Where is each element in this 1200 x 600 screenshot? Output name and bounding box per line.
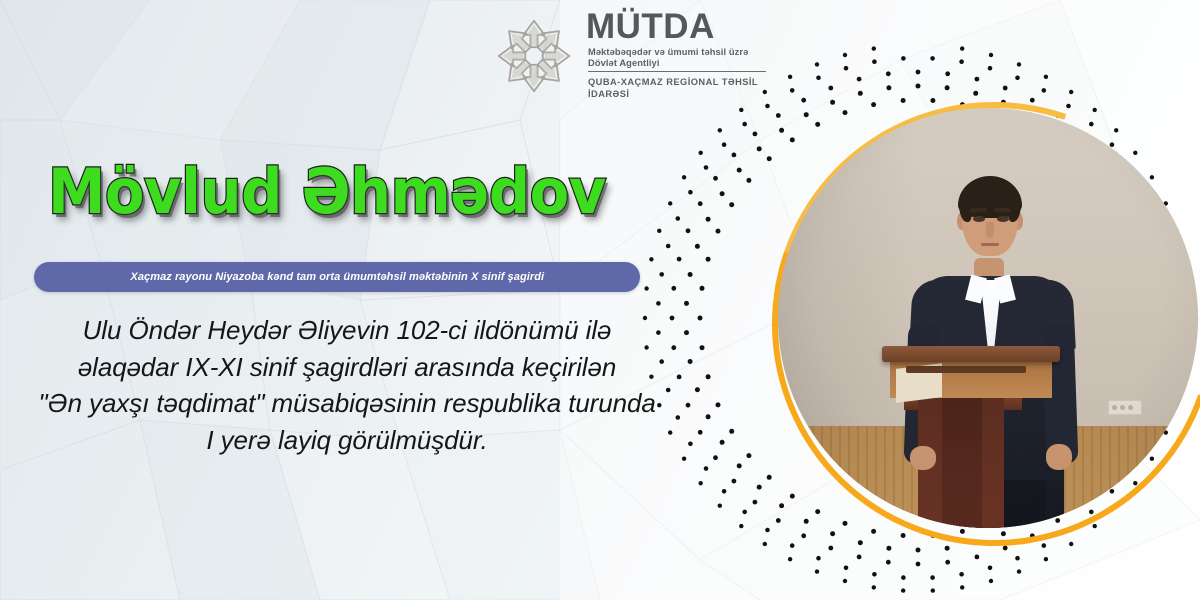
logo-wordmark: MÜTDA [586, 8, 786, 46]
avatar [778, 108, 1198, 528]
portrait-stage [640, 46, 1200, 600]
poster-canvas: MÜTDA Məktəbəqədər və ümumi təhsil üzrə … [0, 0, 1200, 600]
photo-vignette [778, 108, 1198, 528]
snowflake-emblem-icon [488, 12, 580, 100]
page-title: Mövlud Əhmədov [48, 156, 606, 228]
status-badge: Xaçmaz rayonu Niyazoba kənd tam orta ümu… [34, 262, 640, 292]
achievement-description: Ulu Öndər Heydər Əliyevin 102-ci ildönüm… [0, 312, 694, 458]
body-line-4: I yerə layiq görülmüşdür. [0, 422, 694, 459]
body-line-1: Ulu Öndər Heydər Əliyevin 102-ci ildönüm… [0, 312, 694, 349]
body-line-2: əlaqədar IX-XI sinif şagirdləri arasında… [0, 349, 694, 386]
body-line-3: "Ən yaxşı təqdimat" müsabiqəsinin respub… [0, 385, 694, 422]
school-info-label: Xaçmaz rayonu Niyazoba kənd tam orta ümu… [130, 271, 544, 283]
